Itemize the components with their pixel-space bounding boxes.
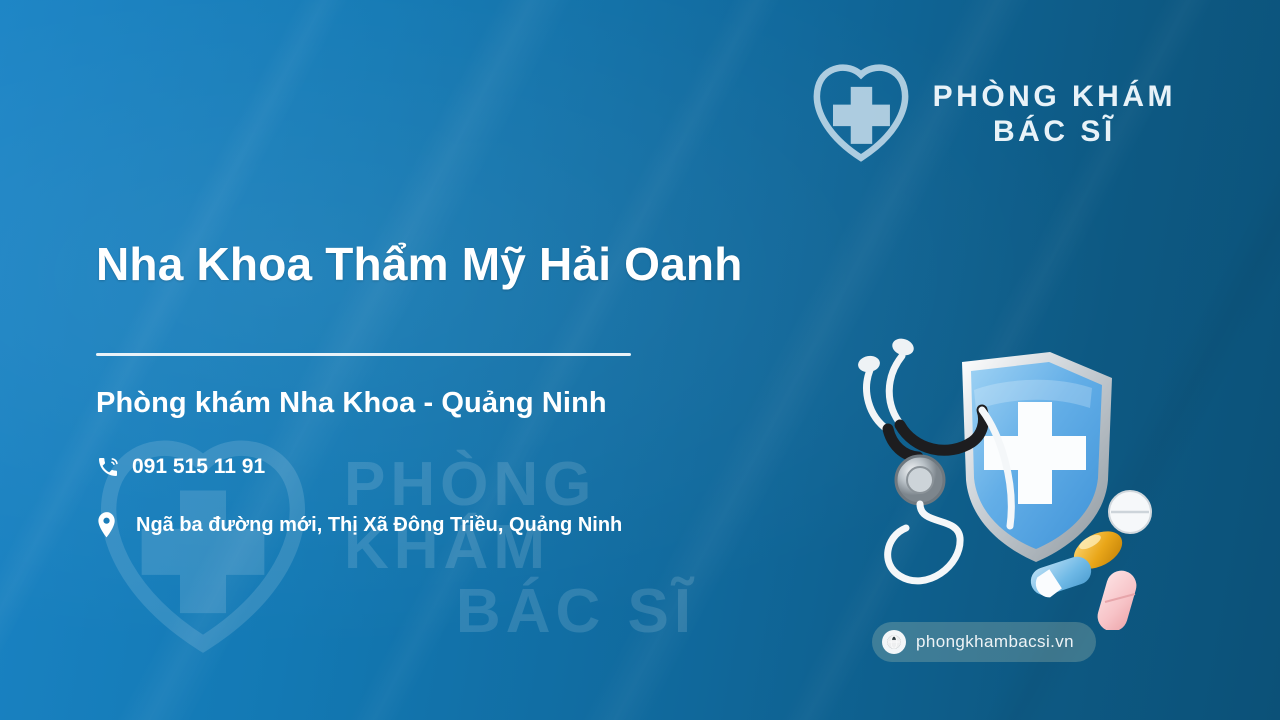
pill-white-tablet [1109,491,1151,533]
watermark-line-2: BÁC SĨ [456,580,696,643]
brand-logo: PHÒNG KHÁM BÁC SĨ [805,58,1176,170]
brand-line-2: BÁC SĨ [993,116,1116,148]
brand-logo-text: PHÒNG KHÁM BÁC SĨ [933,81,1176,148]
brand-logo-icon [805,58,917,170]
shield-icon [962,352,1112,562]
phone-call-icon [96,455,120,479]
medical-illustration [840,330,1180,630]
page-subtitle: Phòng khám Nha Khoa - Quảng Ninh [96,387,856,420]
brand-line-1: PHÒNG KHÁM [933,81,1176,113]
website-badge[interactable]: phongkhambacsi.vn [872,622,1096,662]
page-title: Nha Khoa Thẩm Mỹ Hải Oanh [96,237,876,291]
clinic-banner: PHÒNG KHÁM BÁC SĨ PHÒNG KHÁM BÁC SĨ Nha … [0,0,1280,720]
phone-row[interactable]: 091 515 11 91 [96,455,265,479]
address-text: Ngã ba đường mới, Thị Xã Đông Triều, Quả… [136,514,622,537]
title-divider [96,353,631,356]
globe-icon [882,630,906,654]
location-pin-icon [96,512,118,538]
address-row[interactable]: Ngã ba đường mới, Thị Xã Đông Triều, Quả… [96,512,622,538]
website-url-label: phongkhambacsi.vn [916,632,1074,652]
pill-pink-capsule [1094,567,1140,630]
watermark-logo-text: PHÒNG KHÁM BÁC SĨ [344,453,808,643]
phone-number: 091 515 11 91 [132,455,265,479]
